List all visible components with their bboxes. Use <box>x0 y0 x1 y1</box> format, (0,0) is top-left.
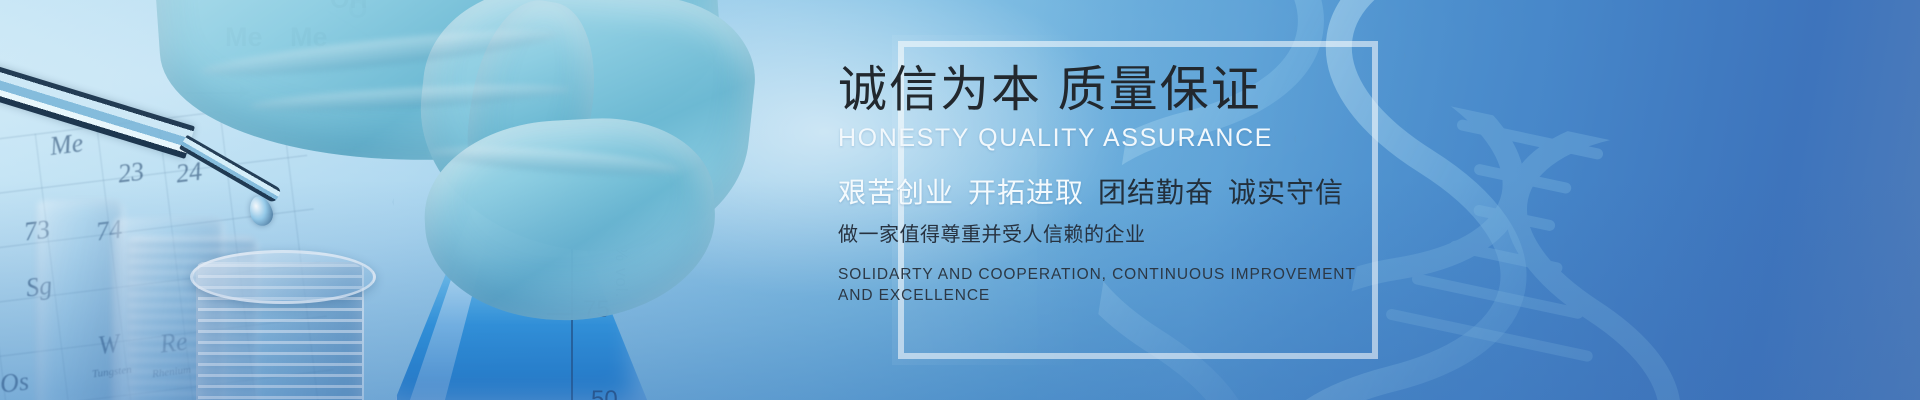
slogan-line: 艰苦创业开拓进取团结勤奋诚实守信 <box>838 171 1578 211</box>
slogan-part-1: 艰苦创业 <box>838 177 954 208</box>
slogan-part-4: 诚实守信 <box>1228 177 1344 208</box>
slogan-part-2: 开拓进取 <box>968 177 1084 208</box>
footer-english-line-1: SOLIDARTY AND COOPERATION, CONTINUOUS IM… <box>838 264 1398 285</box>
tagline-chinese: 做一家值得尊重并受人信赖的企业 <box>838 218 1578 247</box>
hero-banner: SgWReBhOs73742324MeTungstenRheniumBohriu… <box>0 0 1920 400</box>
banner-copy: 诚信为本 质量保证 HONESTY QUALITY ASSURANCE 艰苦创业… <box>838 62 1578 307</box>
footer-english: SOLIDARTY AND COOPERATION, CONTINUOUS IM… <box>838 264 1398 307</box>
slogan-part-3: 团结勤奋 <box>1098 177 1214 208</box>
footer-english-line-2: AND EXCELLENCE <box>838 285 1398 306</box>
headline-english: HONESTY QUALITY ASSURANCE <box>838 124 1578 153</box>
headline-chinese: 诚信为本 质量保证 <box>838 62 1578 120</box>
